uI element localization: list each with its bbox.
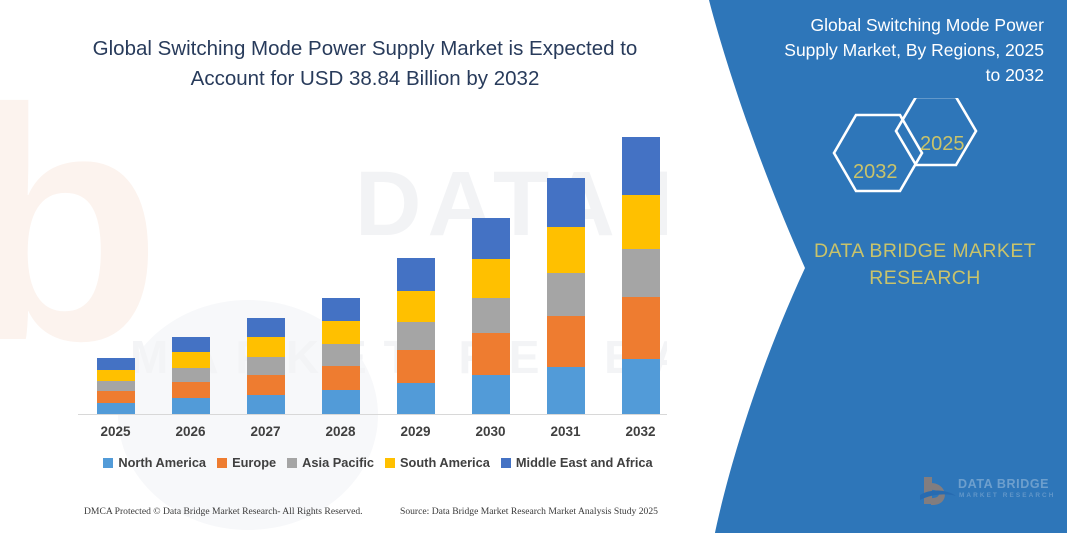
x-axis-label-2032: 2032	[610, 424, 672, 439]
chart-legend: North AmericaEuropeAsia PacificSouth Ame…	[78, 455, 678, 470]
bar-segment-europe	[247, 375, 285, 395]
bar-column-2026	[160, 337, 222, 414]
bar-segment-south-america	[97, 370, 135, 381]
data-bridge-b-logo-icon	[918, 474, 958, 510]
legend-item-middle-east-and-africa[interactable]: Middle East and Africa	[501, 455, 653, 470]
bar-segment-asia-pacific	[547, 273, 585, 316]
legend-label-south-america: South America	[400, 455, 490, 470]
bar-column-2030	[460, 218, 522, 414]
bar-segment-north-america	[547, 367, 585, 414]
bar-segment-europe	[97, 391, 135, 403]
bar-segment-south-america	[322, 321, 360, 344]
legend-swatch-north-america	[103, 458, 113, 468]
x-axis-label-2029: 2029	[385, 424, 447, 439]
stacked-bar	[472, 218, 510, 414]
legend-label-asia-pacific: Asia Pacific	[302, 455, 374, 470]
legend-item-asia-pacific[interactable]: Asia Pacific	[287, 455, 374, 470]
stacked-bar	[172, 337, 210, 414]
legend-label-north-america: North America	[118, 455, 206, 470]
bar-segment-middle-east-and-africa	[247, 318, 285, 337]
stacked-bar-chart	[78, 110, 678, 415]
bar-segment-asia-pacific	[172, 368, 210, 382]
stacked-bar	[97, 358, 135, 414]
bar-segment-north-america	[397, 383, 435, 414]
stacked-bar	[322, 298, 360, 414]
x-axis-label-2025: 2025	[85, 424, 147, 439]
panel-title: Global Switching Mode Power Supply Marke…	[774, 13, 1044, 88]
bar-segment-asia-pacific	[472, 298, 510, 333]
bar-column-2029	[385, 258, 447, 414]
bar-column-2025	[85, 358, 147, 414]
bar-segment-europe	[397, 350, 435, 383]
legend-label-middle-east-and-africa: Middle East and Africa	[516, 455, 653, 470]
bar-segment-north-america	[247, 395, 285, 414]
legend-swatch-middle-east-and-africa	[501, 458, 511, 468]
bar-column-2031	[535, 178, 597, 414]
bar-segment-asia-pacific	[397, 322, 435, 350]
legend-swatch-south-america	[385, 458, 395, 468]
bar-segment-south-america	[172, 352, 210, 368]
brand-line-1: DATA BRIDGE MARKET	[814, 240, 1036, 262]
bar-segment-asia-pacific	[247, 357, 285, 375]
legend-label-europe: Europe	[232, 455, 276, 470]
logo-watermark: DATA BRIDGE MARKET RESEARCH	[918, 474, 1058, 514]
chart-bars	[78, 114, 678, 414]
hexagon-2032-label: 2032	[853, 161, 898, 184]
bar-segment-south-america	[397, 291, 435, 322]
bar-segment-middle-east-and-africa	[472, 218, 510, 259]
legend-swatch-asia-pacific	[287, 458, 297, 468]
bar-segment-north-america	[97, 403, 135, 414]
bar-segment-south-america	[622, 195, 660, 249]
bar-segment-middle-east-and-africa	[97, 358, 135, 370]
bar-segment-middle-east-and-africa	[397, 258, 435, 291]
hexagon-2025-label: 2025	[920, 133, 965, 156]
bar-segment-middle-east-and-africa	[322, 298, 360, 321]
bar-segment-north-america	[172, 398, 210, 414]
bar-segment-europe	[622, 297, 660, 359]
brand-name: DATA BRIDGE MARKET RESEARCH	[790, 238, 1060, 292]
bar-segment-europe	[322, 366, 360, 390]
x-axis-label-2027: 2027	[235, 424, 297, 439]
stacked-bar	[547, 178, 585, 414]
bar-column-2032	[610, 137, 672, 414]
bar-segment-middle-east-and-africa	[622, 137, 660, 195]
legend-item-south-america[interactable]: South America	[385, 455, 490, 470]
bar-segment-north-america	[472, 375, 510, 414]
x-axis-label-2031: 2031	[535, 424, 597, 439]
bar-segment-north-america	[322, 390, 360, 414]
bar-segment-north-america	[622, 359, 660, 414]
stacked-bar	[247, 318, 285, 414]
bar-segment-europe	[547, 316, 585, 367]
x-axis-line	[78, 414, 678, 415]
stacked-bar	[397, 258, 435, 414]
brand-line-2: RESEARCH	[869, 267, 981, 289]
bar-segment-middle-east-and-africa	[547, 178, 585, 227]
bar-column-2027	[235, 318, 297, 414]
bar-segment-asia-pacific	[97, 381, 135, 391]
bar-segment-south-america	[247, 337, 285, 357]
logo-watermark-name: DATA BRIDGE	[958, 477, 1049, 491]
stacked-bar	[622, 137, 660, 414]
hexagon-group: 2025 2032	[824, 98, 984, 208]
x-axis-label-2030: 2030	[460, 424, 522, 439]
legend-item-europe[interactable]: Europe	[217, 455, 276, 470]
legend-swatch-europe	[217, 458, 227, 468]
bar-segment-south-america	[547, 227, 585, 273]
footer-copyright: DMCA Protected © Data Bridge Market Rese…	[84, 506, 363, 517]
bar-segment-middle-east-and-africa	[172, 337, 210, 352]
bar-segment-europe	[172, 382, 210, 398]
bar-segment-south-america	[472, 259, 510, 298]
legend-item-north-america[interactable]: North America	[103, 455, 206, 470]
infographic-canvas: b DATA BRIDGE MARKET RESEARCH Global Swi…	[0, 0, 1067, 533]
x-axis-labels: 20252026202720282029203020312032	[78, 424, 678, 439]
bar-segment-europe	[472, 333, 510, 375]
bar-column-2028	[310, 298, 372, 414]
footer-source: Source: Data Bridge Market Research Mark…	[400, 506, 658, 517]
bar-segment-asia-pacific	[322, 344, 360, 366]
x-axis-label-2026: 2026	[160, 424, 222, 439]
logo-watermark-sub: MARKET RESEARCH	[959, 492, 1055, 499]
x-axis-label-2028: 2028	[310, 424, 372, 439]
page-title: Global Switching Mode Power Supply Marke…	[70, 34, 660, 94]
bar-segment-asia-pacific	[622, 249, 660, 297]
